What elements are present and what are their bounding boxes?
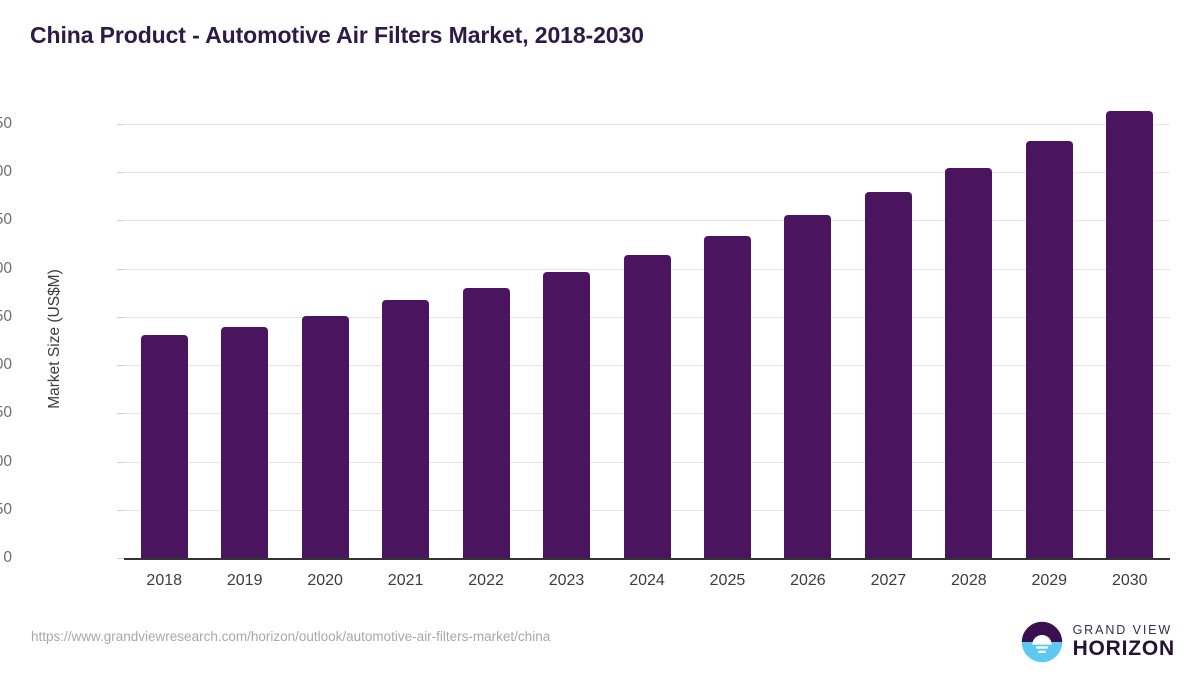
bar-2025[interactable] [704,236,751,558]
bar-2018[interactable] [141,335,188,558]
y-axis-tick-label: 500 [0,453,12,471]
y-axis-tick-mark [117,220,124,221]
x-axis-tick-label: 2020 [285,572,365,590]
x-axis-tick-label: 2021 [365,572,445,590]
y-axis-tick-mark [117,365,124,366]
x-axis-tick-label: 2023 [526,572,606,590]
x-axis-tick-label: 2024 [607,572,687,590]
bar-2019[interactable] [221,327,268,558]
y-axis-tick-label: 1000 [0,356,12,374]
bar-2029[interactable] [1026,141,1073,558]
y-axis-tick-mark [117,317,124,318]
bar-2023[interactable] [543,272,590,558]
x-axis-tick-label: 2029 [1009,572,1089,590]
x-axis-tick-label: 2026 [768,572,848,590]
y-axis-tick-label: 1500 [0,260,12,278]
bar-2021[interactable] [382,300,429,558]
y-axis-tick-mark [117,413,124,414]
logo-text: GRAND VIEW HORIZON [1073,624,1175,659]
y-axis-tick-mark [117,558,124,559]
x-axis-tick-label: 2027 [848,572,928,590]
bar-2027[interactable] [865,192,912,558]
y-axis-tick-label: 1250 [0,308,12,326]
y-axis-tick-label: 750 [0,404,12,422]
gridline [124,220,1170,221]
y-axis-tick-label: 1750 [0,211,12,229]
y-axis-line [123,100,124,560]
chart-canvas: China Product - Automotive Air Filters M… [0,0,1200,675]
y-axis-tick-label: 250 [0,501,12,519]
y-axis-tick-mark [117,269,124,270]
x-axis-tick-label: 2018 [124,572,204,590]
y-axis-tick-mark [117,124,124,125]
y-axis-tick-mark [117,172,124,173]
x-axis-tick-label: 2030 [1090,572,1170,590]
gridline [124,124,1170,125]
x-axis-tick-label: 2019 [204,572,284,590]
bar-2028[interactable] [945,168,992,558]
page-title: China Product - Automotive Air Filters M… [30,22,644,49]
x-axis-tick-label: 2028 [929,572,1009,590]
bar-2026[interactable] [784,215,831,558]
plot-area [124,100,1170,558]
y-axis-tick-label: 2250 [0,115,12,133]
gridline [124,172,1170,173]
x-axis-tick-label: 2022 [446,572,526,590]
source-url[interactable]: https://www.grandviewresearch.com/horizo… [31,629,550,644]
logo-brand-line2: HORIZON [1073,638,1175,660]
y-axis-tick-mark [117,462,124,463]
y-axis-title: Market Size (US$M) [46,229,64,449]
logo-brand-line1: GRAND VIEW [1073,624,1175,637]
horizon-circle-icon [1020,620,1064,664]
bar-2020[interactable] [302,316,349,558]
bar-2030[interactable] [1106,111,1153,559]
grand-view-horizon-logo[interactable]: GRAND VIEW HORIZON [1020,620,1175,664]
x-axis-tick-label: 2025 [687,572,767,590]
bar-2022[interactable] [463,288,510,558]
bar-2024[interactable] [624,255,671,558]
x-axis-line [124,558,1170,560]
y-axis-tick-label: 2000 [0,163,12,181]
y-axis-tick-mark [117,510,124,511]
y-axis-tick-label: 0 [0,549,12,567]
